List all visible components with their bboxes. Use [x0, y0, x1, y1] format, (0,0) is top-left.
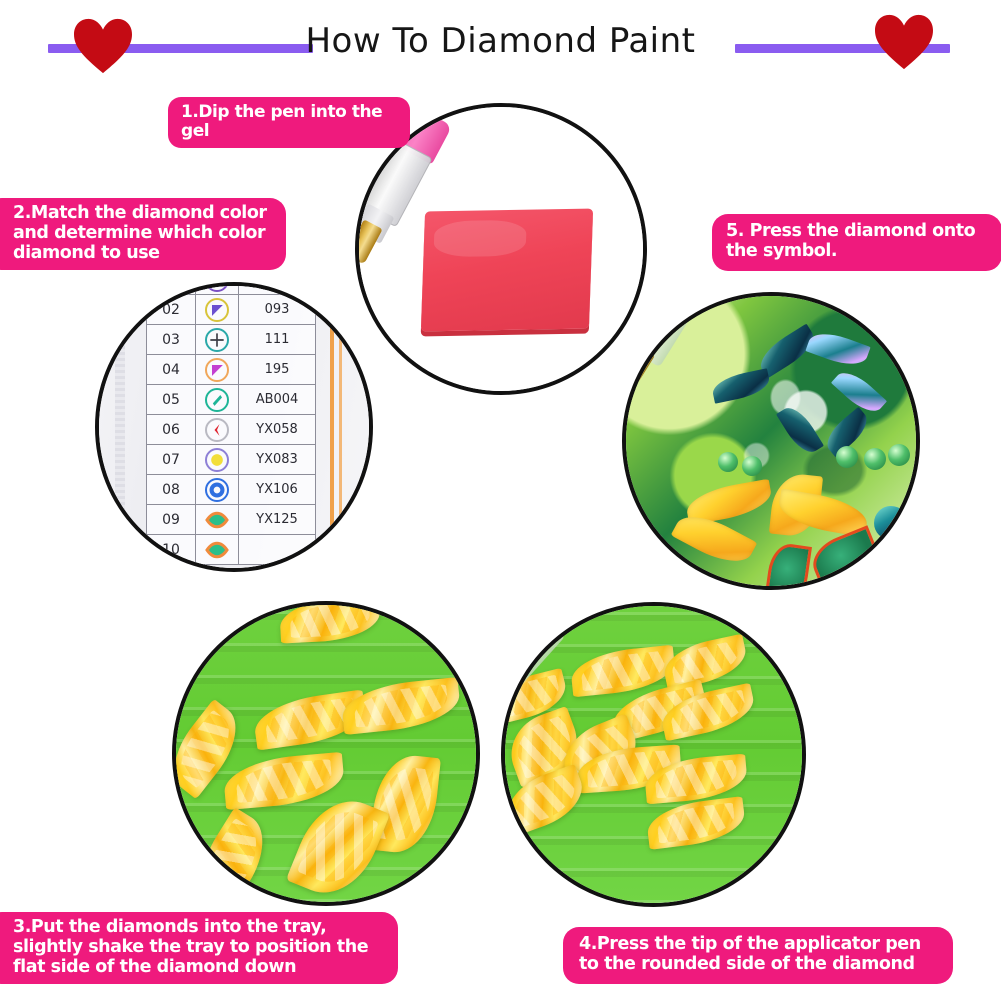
gem-rainbow	[805, 327, 870, 372]
applicator-pen	[622, 292, 701, 428]
legend-row: 01028	[147, 282, 316, 295]
chevron-left-circle-icon	[205, 418, 229, 442]
quarter-wedge-circle-icon	[205, 298, 229, 322]
legend-row: 09YX125	[147, 505, 316, 535]
gem-dark	[710, 368, 772, 404]
legend-symbol-cell	[196, 415, 239, 445]
canvas-weave-edge	[115, 286, 125, 568]
legend-row: 05AB004	[147, 385, 316, 415]
canvas-orange-stripe	[330, 286, 334, 568]
diamond-gem	[340, 677, 462, 735]
legend-symbol-cell	[196, 505, 239, 535]
slash-oval-circle-icon	[205, 388, 229, 412]
filled-dot-circle-icon	[205, 448, 229, 472]
legend-code: 093	[239, 295, 316, 325]
legend-code: YX125	[239, 505, 316, 535]
chart-photo-inner: 0102802093031110419505AB00406YX05807YX08…	[99, 286, 369, 568]
color-legend-body: 0102802093031110419505AB00406YX05807YX08…	[147, 282, 316, 565]
legend-code: YX106	[239, 475, 316, 505]
legend-code: YX058	[239, 415, 316, 445]
legend-code: 195	[239, 355, 316, 385]
diamond-gem	[187, 807, 279, 906]
legend-symbol-cell	[196, 282, 239, 295]
legend-symbol-cell	[196, 445, 239, 475]
legend-code: 028	[239, 282, 316, 295]
diamond-gem	[369, 752, 441, 856]
legend-number: 06	[147, 415, 196, 445]
color-legend-table: 0102802093031110419505AB00406YX05807YX08…	[146, 282, 316, 565]
infographic-page: How To Diamond Paint 1.Dip the pen into …	[0, 0, 1001, 1001]
legend-number: 05	[147, 385, 196, 415]
legend-number: 04	[147, 355, 196, 385]
header-band: How To Diamond Paint	[0, 0, 1001, 90]
pen-metal-tip	[622, 343, 655, 415]
pickup-photo-inner	[505, 606, 802, 903]
photo-step-3-diamonds-in-tray	[172, 601, 480, 906]
callout-step-2: 2.Match the diamond color and determine …	[0, 198, 286, 270]
legend-row: 02093	[147, 295, 316, 325]
legend-symbol-cell	[196, 385, 239, 415]
callout-step-1: 1.Dip the pen into the gel	[168, 97, 410, 148]
callout-step-5: 5. Press the diamond onto the symbol.	[712, 214, 1001, 271]
legend-code: AB004	[239, 385, 316, 415]
legend-number: 03	[147, 325, 196, 355]
photo-step-5-press-diamond	[622, 292, 920, 590]
gem-green-round	[864, 448, 886, 470]
two-dots-circle-icon	[205, 282, 229, 292]
legend-number: 01	[147, 282, 196, 295]
legend-code: YX083	[239, 445, 316, 475]
photo-step-2-color-chart: 0102802093031110419505AB00406YX05807YX08…	[95, 282, 373, 572]
legend-row: 04195	[147, 355, 316, 385]
diamond-gem	[222, 752, 346, 810]
legend-number: 02	[147, 295, 196, 325]
wax-gel-pad	[421, 209, 593, 332]
diamond-gem	[279, 601, 381, 644]
quarter-wedge-circle-icon	[205, 358, 229, 382]
gem-dark	[776, 402, 824, 459]
diamond-gem	[645, 796, 747, 850]
canvas-orange-stripe-2	[339, 286, 342, 568]
photo-step-4-pen-picks-diamond	[501, 602, 806, 907]
legend-code	[239, 535, 316, 565]
legend-symbol-cell	[196, 475, 239, 505]
legend-number: 07	[147, 445, 196, 475]
legend-row: 06YX058	[147, 415, 316, 445]
press-photo-inner	[626, 296, 916, 586]
gel-photo-inner	[359, 107, 643, 391]
legend-row: 03111	[147, 325, 316, 355]
legend-symbol-cell	[196, 535, 239, 565]
tray-photo-inner	[176, 605, 476, 902]
diamond-gem	[660, 634, 750, 691]
printed-petal-outline	[806, 525, 884, 590]
gem-green-round	[888, 444, 910, 466]
diamond-gem	[501, 764, 591, 836]
legend-row: 07YX083	[147, 445, 316, 475]
legend-number: 10	[147, 535, 196, 565]
plus-circle-icon	[205, 328, 229, 352]
legend-row: 10	[147, 535, 316, 565]
gem-teal-round	[874, 506, 908, 540]
ring-circle-icon	[205, 478, 229, 502]
printed-petal-outline	[764, 542, 812, 590]
callout-step-4: 4.Press the tip of the applicator pen to…	[563, 927, 953, 984]
legend-symbol-cell	[196, 355, 239, 385]
legend-number: 08	[147, 475, 196, 505]
gem-green-round	[718, 452, 738, 472]
gem-green-round	[742, 456, 762, 476]
legend-symbol-cell	[196, 295, 239, 325]
leaf-marquise-icon	[205, 508, 229, 532]
gem-green-round	[836, 446, 858, 468]
legend-symbol-cell	[196, 325, 239, 355]
page-title: How To Diamond Paint	[0, 21, 1001, 61]
leaf-marquise-icon	[205, 538, 229, 562]
legend-code: 111	[239, 325, 316, 355]
legend-row: 08YX106	[147, 475, 316, 505]
legend-number: 09	[147, 505, 196, 535]
callout-step-3: 3.Put the diamonds into the tray, slight…	[0, 912, 398, 984]
